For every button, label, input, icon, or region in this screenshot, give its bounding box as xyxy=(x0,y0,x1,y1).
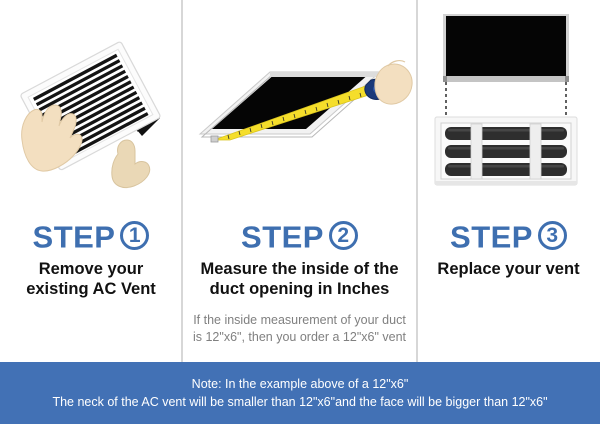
vent-aligned-under-duct-opening-icon xyxy=(417,0,600,200)
hands-removing-ac-vent-icon xyxy=(0,0,182,200)
step-3-number-circle: 3 xyxy=(538,221,567,250)
step-1-illustration xyxy=(0,0,182,200)
step-2-title-line-1: Measure the inside of the xyxy=(182,259,417,279)
step-3-heading: STEP3 xyxy=(417,219,600,252)
note-line-2: The neck of the AC vent will be smaller … xyxy=(52,393,547,411)
note-bar: Note: In the example above of a 12"x6" T… xyxy=(0,362,600,424)
step-3-title-line-1: Replace your vent xyxy=(417,259,600,279)
step-1-title-line-2: existing AC Vent xyxy=(0,279,182,299)
column-divider-2 xyxy=(416,0,418,362)
step-1-word: STEP xyxy=(33,219,116,254)
step-2-subtext-line-2: is 12"x6", then you order a 12"x6" vent xyxy=(182,329,417,346)
step-1-title: Remove your existing AC Vent xyxy=(0,259,182,299)
column-divider-1 xyxy=(181,0,183,362)
step-2-word: STEP xyxy=(241,219,324,254)
step-2-subtext: If the inside measurement of your duct i… xyxy=(182,312,417,346)
step-3-column: STEP3 Replace your vent xyxy=(417,0,600,362)
step-1-number-circle: 1 xyxy=(120,221,149,250)
step-3-illustration xyxy=(417,0,600,200)
tape-measure-on-duct-opening-icon xyxy=(182,0,417,200)
step-2-subtext-line-1: If the inside measurement of your duct xyxy=(182,312,417,329)
step-2-title: Measure the inside of the duct opening i… xyxy=(182,259,417,299)
step-3-word: STEP xyxy=(450,219,533,254)
step-1-title-line-1: Remove your xyxy=(0,259,182,279)
step-2-heading: STEP2 xyxy=(182,219,417,252)
steps-container: STEP1 Remove your existing AC Vent xyxy=(0,0,600,362)
step-2-illustration xyxy=(182,0,417,200)
step-3-title: Replace your vent xyxy=(417,259,600,279)
step-1-column: STEP1 Remove your existing AC Vent xyxy=(0,0,182,362)
infographic-page: STEP1 Remove your existing AC Vent xyxy=(0,0,600,424)
note-line-1: Note: In the example above of a 12"x6" xyxy=(192,375,409,393)
step-1-heading: STEP1 xyxy=(0,219,182,252)
step-2-title-line-2: duct opening in Inches xyxy=(182,279,417,299)
step-2-number-circle: 2 xyxy=(329,221,358,250)
step-2-column: STEP2 Measure the inside of the duct ope… xyxy=(182,0,417,362)
